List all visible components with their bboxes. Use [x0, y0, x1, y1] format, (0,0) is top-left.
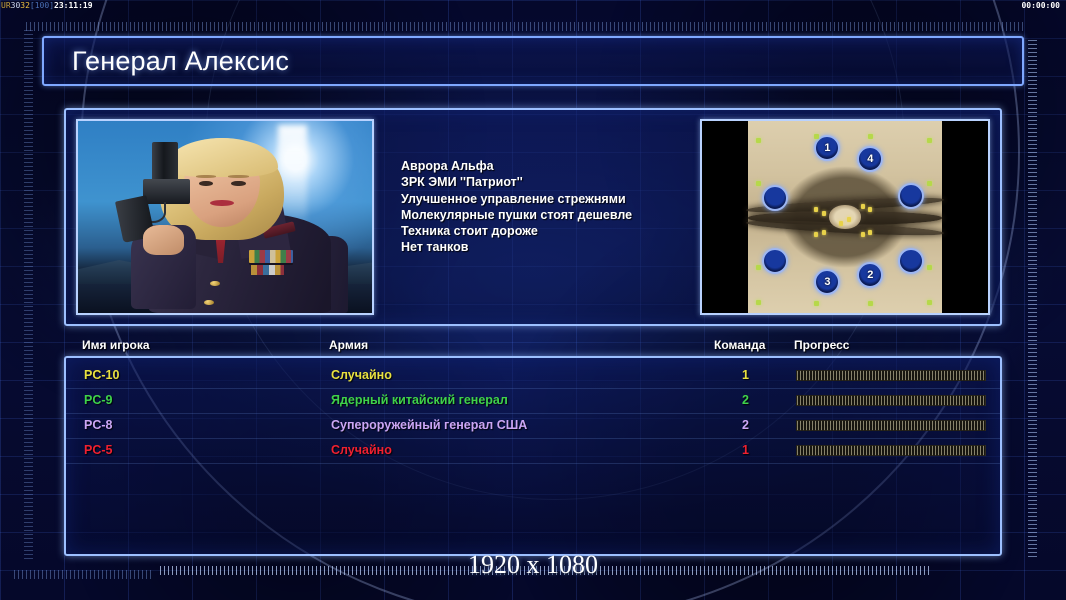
player-name: PC-9	[84, 393, 112, 407]
portrait-hand	[143, 225, 184, 256]
map-tech-building-8	[822, 230, 826, 235]
ability-line-5: Техника стоит дороже	[401, 223, 701, 239]
column-header-team: Команда	[714, 338, 765, 352]
match-timer: 00:00:00	[1021, 0, 1060, 11]
ability-line-2: ЗРК ЭМИ ''Патриот''	[401, 174, 701, 190]
map-supply-dock-9	[756, 300, 761, 305]
player-progress-bar	[796, 445, 986, 456]
column-header-army: Армия	[329, 338, 368, 352]
ruler-left	[24, 30, 33, 560]
map-tech-building-2	[822, 211, 826, 216]
portrait-eyebrow-left	[196, 175, 217, 178]
player-name: PC-10	[84, 368, 119, 382]
player-row[interactable]: PC-9Ядерный китайский генерал2	[66, 389, 1000, 414]
player-name: PC-8	[84, 418, 112, 432]
page-title: Генерал Алексис	[72, 46, 289, 77]
ruler-right	[1028, 40, 1037, 560]
player-army[interactable]: Случайно	[331, 368, 392, 382]
player-army[interactable]: Супероружейный генерал США	[331, 418, 527, 432]
player-list-panel: PC-10Случайно1PC-9Ядерный китайский гене…	[64, 356, 1002, 556]
map-supply-dock-3	[868, 134, 873, 139]
portrait-medal-ribbons-secondary	[251, 265, 283, 275]
map-supply-dock-5	[756, 181, 761, 186]
map-start-position-empty-4	[898, 248, 924, 274]
status-token-fps: 30	[11, 1, 21, 10]
ability-line-1: Аврора Альфа	[401, 158, 701, 174]
map-start-position-empty-3	[762, 248, 788, 274]
map-tech-building-6	[847, 217, 851, 222]
ability-line-4: Молекулярные пушки стоят дешевле	[401, 207, 701, 223]
column-header-progress: Прогресс	[794, 338, 849, 352]
ability-line-6: Нет танков	[401, 239, 701, 255]
top-status-bar: UR3032[100]23:11:19 00:00:00	[0, 0, 1066, 11]
map-tech-building-1	[814, 207, 818, 212]
player-progress-bar	[796, 420, 986, 431]
general-ability-list: Аврора Альфа ЗРК ЭМИ ''Патриот'' Улучшен…	[401, 158, 701, 256]
status-token-ping: 32	[20, 1, 30, 10]
portrait-eye-right	[231, 181, 246, 187]
status-token-bracket: [100]	[30, 1, 54, 10]
map-tech-building-4	[868, 207, 872, 212]
player-list-header: Имя игрока Армия Команда Прогресс	[64, 338, 1002, 356]
column-header-name: Имя игрока	[82, 338, 150, 352]
top-status-left: UR3032[100]23:11:19	[1, 0, 93, 11]
map-supply-dock-8	[927, 265, 932, 270]
ability-line-3: Улучшенное управление стрежнями	[401, 191, 701, 207]
map-start-position-empty-1	[762, 185, 788, 211]
map-supply-dock-10	[814, 301, 819, 306]
map-central-island	[829, 205, 860, 228]
player-team[interactable]: 2	[742, 418, 749, 432]
map-supply-dock-4	[927, 138, 932, 143]
player-name: PC-5	[84, 443, 112, 457]
map-supply-dock-7	[756, 265, 761, 270]
map-tech-building-5	[839, 221, 843, 226]
header-panel: Генерал Алексис	[42, 36, 1024, 86]
map-supply-dock-1	[756, 138, 761, 143]
player-team[interactable]: 1	[742, 443, 749, 457]
player-progress-bar	[796, 395, 986, 406]
player-row[interactable]: PC-8Супероружейный генерал США2	[66, 414, 1000, 439]
player-team[interactable]: 2	[742, 393, 749, 407]
general-portrait	[76, 119, 374, 315]
resolution-label: 1920 x 1080	[0, 550, 1066, 580]
portrait-medal-ribbons	[249, 250, 293, 263]
player-army[interactable]: Ядерный китайский генерал	[331, 393, 508, 407]
portrait-eyebrow-right	[228, 175, 249, 178]
status-token-clock: 23:11:19	[54, 1, 93, 10]
player-row[interactable]: PC-5Случайно1	[66, 439, 1000, 464]
player-progress-bar	[796, 370, 986, 381]
player-team[interactable]: 1	[742, 368, 749, 382]
player-row[interactable]: PC-10Случайно1	[66, 364, 1000, 389]
map-start-position-empty-2	[898, 183, 924, 209]
map-supply-dock-12	[927, 300, 932, 305]
general-info-panel: Аврора Альфа ЗРК ЭМИ ''Патриот'' Улучшен…	[64, 108, 1002, 326]
map-tech-building-3	[861, 204, 865, 209]
map-tech-building-10	[868, 230, 872, 235]
ruler-top	[26, 22, 1024, 31]
portrait-uniform-button-1	[210, 281, 219, 286]
map-supply-dock-2	[814, 134, 819, 139]
map-start-position-2: 2	[857, 262, 883, 288]
map-preview[interactable]: 1432	[700, 119, 990, 315]
map-supply-dock-11	[868, 301, 873, 306]
map-terrain: 1432	[748, 121, 942, 313]
portrait-lips	[210, 200, 234, 206]
map-start-position-3: 3	[814, 269, 840, 295]
status-token-ur: UR	[1, 1, 11, 10]
map-start-position-4: 4	[857, 146, 883, 172]
map-supply-dock-6	[927, 181, 932, 186]
portrait-pistol-slide	[143, 179, 190, 204]
player-army[interactable]: Случайно	[331, 443, 392, 457]
map-tech-building-9	[861, 232, 865, 237]
map-tech-building-7	[814, 232, 818, 237]
